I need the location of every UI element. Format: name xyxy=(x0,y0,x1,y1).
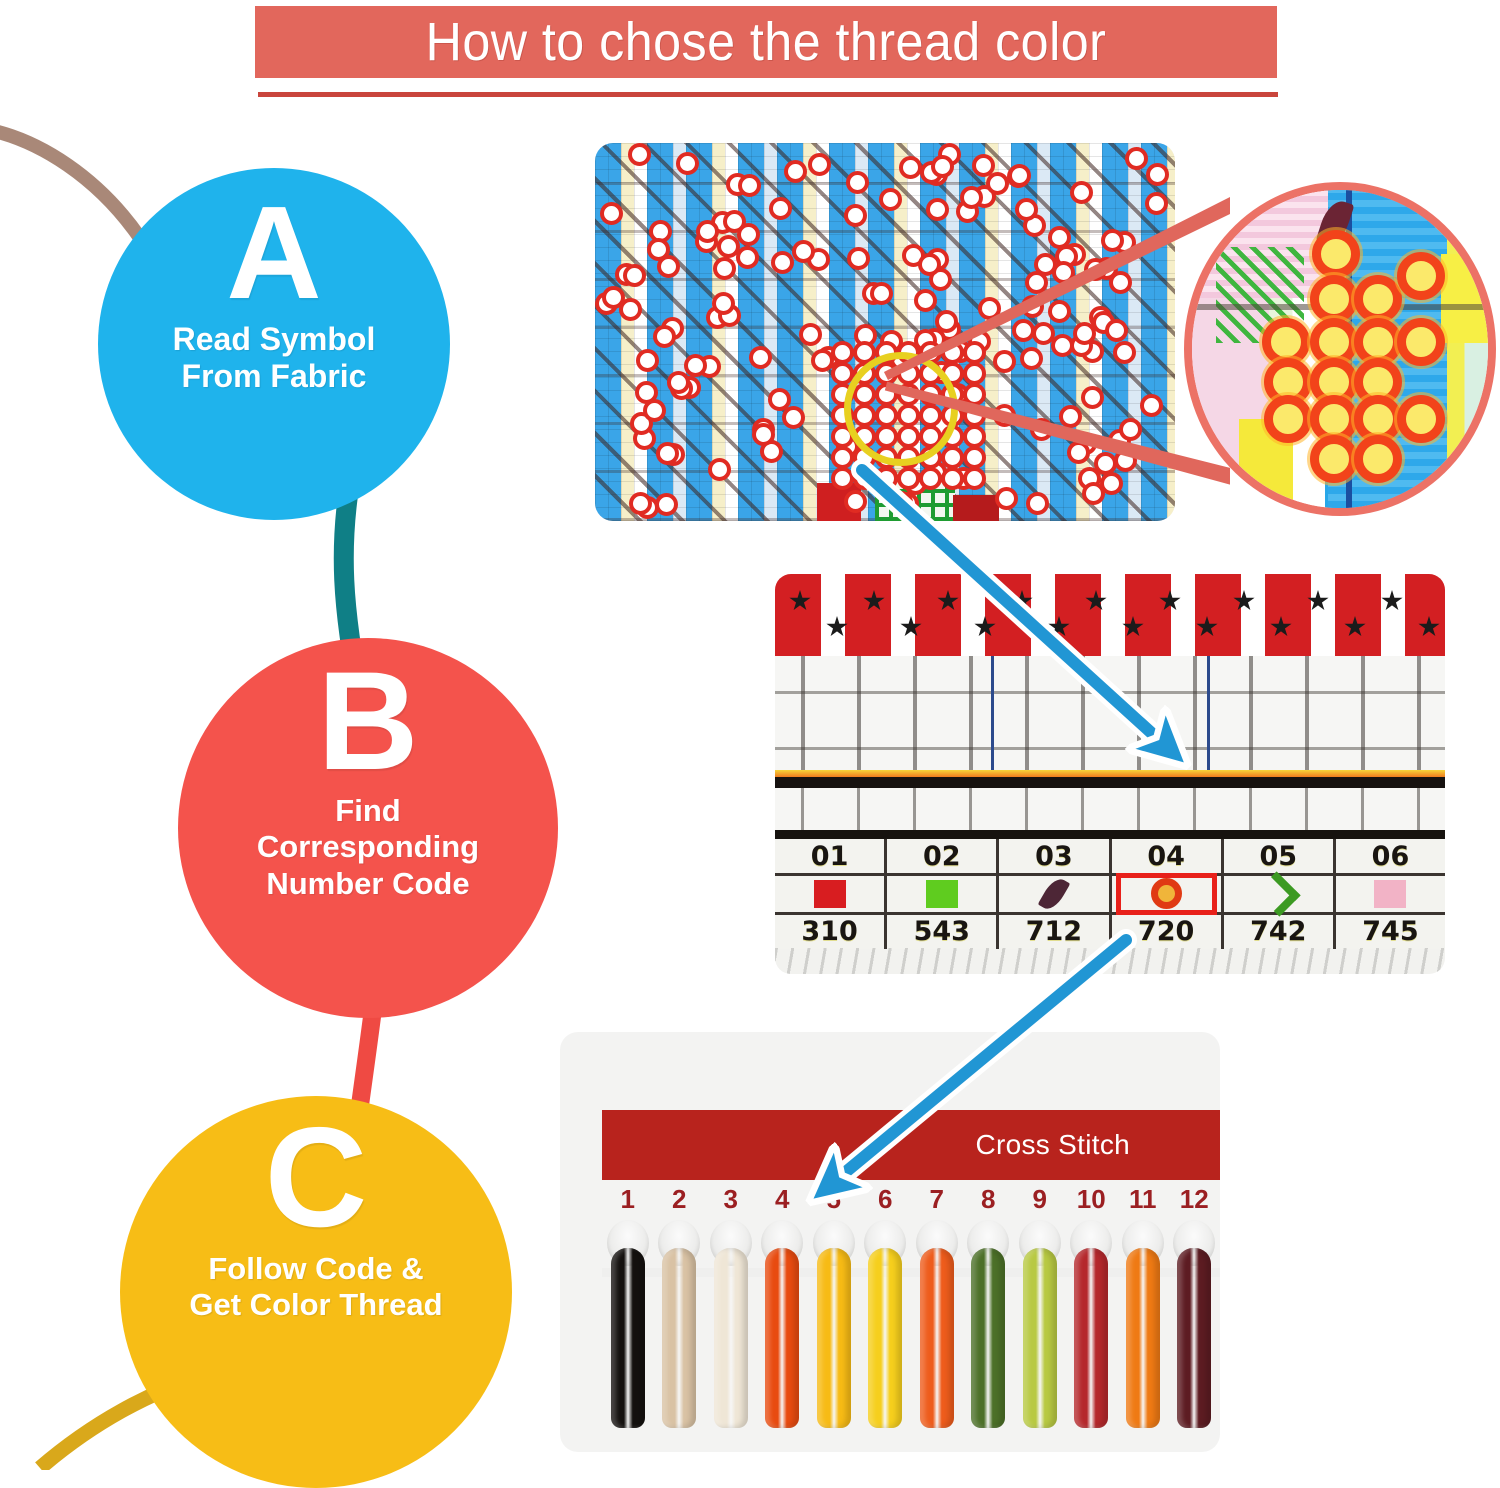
chart-spiral-binding xyxy=(775,948,1445,974)
thread-strand-slot[interactable] xyxy=(654,1248,706,1448)
symbol-key-number: 02 xyxy=(887,839,996,873)
thread-strand-slot[interactable] xyxy=(1014,1248,1066,1448)
connector-top-line xyxy=(0,120,150,240)
chart-grid-area xyxy=(775,656,1445,776)
square-icon xyxy=(926,880,958,908)
step-circle-b[interactable]: B Find Corresponding Number Code xyxy=(178,638,558,1018)
symbol-key-table: 013100254303712047200574206745 xyxy=(775,839,1445,949)
chart-star xyxy=(1233,590,1255,612)
thread-position-number: 8 xyxy=(963,1184,1015,1224)
symbol-key-column[interactable]: 02543 xyxy=(887,839,999,949)
thread-bundle xyxy=(765,1248,799,1428)
lens-ring-symbol xyxy=(1397,318,1445,366)
thread-position-number: 5 xyxy=(808,1184,860,1224)
chart-star xyxy=(974,616,996,638)
thread-bundle xyxy=(611,1248,645,1428)
thread-bundle xyxy=(817,1248,851,1428)
chart-black-stripe-2 xyxy=(775,830,1445,839)
thread-position-number: 9 xyxy=(1014,1184,1066,1224)
chart-star xyxy=(1381,590,1403,612)
magnifier-lens[interactable] xyxy=(1184,182,1496,516)
lens-ring-symbol xyxy=(1354,435,1402,483)
page-title: How to chose the thread color xyxy=(426,11,1107,73)
chart-star xyxy=(1270,616,1292,638)
thread-strand-slot[interactable] xyxy=(1066,1248,1118,1448)
chart-stars xyxy=(775,584,1445,646)
step-c-caption-line2: Get Color Thread xyxy=(189,1287,442,1322)
chart-star xyxy=(863,590,885,612)
symbol-key-glyph-cell[interactable] xyxy=(1112,873,1221,915)
step-c-caption-line1: Follow Code & xyxy=(208,1251,423,1286)
thread-bundle xyxy=(868,1248,902,1428)
symbol-key-column[interactable]: 04720 xyxy=(1112,839,1224,949)
thread-strand-slot[interactable] xyxy=(963,1248,1015,1448)
thread-position-number: 4 xyxy=(757,1184,809,1224)
symbol-key-column[interactable]: 05742 xyxy=(1224,839,1336,949)
symbol-key-number: 03 xyxy=(999,839,1108,873)
symbol-key-code: 742 xyxy=(1224,915,1333,949)
symbol-key-code: 543 xyxy=(887,915,996,949)
thread-position-number: 12 xyxy=(1169,1184,1221,1224)
thread-bundle xyxy=(920,1248,954,1428)
thread-bundle xyxy=(1074,1248,1108,1428)
symbol-highlight-box xyxy=(1116,873,1217,915)
page-title-banner: How to chose the thread color xyxy=(255,6,1277,78)
symbol-key-column[interactable]: 06745 xyxy=(1336,839,1445,949)
chevron-icon xyxy=(1256,871,1301,916)
symbol-key-glyph-cell[interactable] xyxy=(999,873,1108,915)
step-b-letter: B xyxy=(317,650,418,793)
thread-strand-slot[interactable] xyxy=(1169,1248,1221,1448)
thread-strand-slot[interactable] xyxy=(1117,1248,1169,1448)
step-c-letter: C xyxy=(265,1106,368,1251)
lens-ring-symbol xyxy=(1312,230,1360,278)
chart-star xyxy=(937,590,959,612)
chart-star xyxy=(1196,616,1218,638)
thread-brand-label: Cross Stitch xyxy=(975,1129,1130,1161)
thread-strands xyxy=(602,1248,1220,1448)
thread-position-number: 6 xyxy=(860,1184,912,1224)
lens-ring-symbol xyxy=(1397,395,1445,443)
lens-yellow-area-2 xyxy=(1441,254,1488,343)
thread-position-number: 10 xyxy=(1066,1184,1118,1224)
thread-strand-slot[interactable] xyxy=(705,1248,757,1448)
symbol-key-code: 745 xyxy=(1336,915,1445,949)
chart-star xyxy=(1122,616,1144,638)
symbol-key-glyph-cell[interactable] xyxy=(1336,873,1445,915)
chart-star xyxy=(900,616,922,638)
thread-bundle xyxy=(1023,1248,1057,1428)
symbol-key-column[interactable]: 01310 xyxy=(775,839,887,949)
chart-star xyxy=(1159,590,1181,612)
thread-strand-slot[interactable] xyxy=(911,1248,963,1448)
symbol-key-number: 01 xyxy=(775,839,884,873)
chart-divider-1 xyxy=(991,656,994,776)
symbol-chart-card[interactable]: 013100254303712047200574206745 xyxy=(775,574,1445,974)
chart-star xyxy=(1085,590,1107,612)
symbol-key-code: 712 xyxy=(999,915,1108,949)
chart-star xyxy=(1011,590,1033,612)
leaf-icon xyxy=(1038,875,1071,913)
thread-bundle xyxy=(971,1248,1005,1428)
step-b-caption-line1: Find xyxy=(335,793,400,828)
lens-ring-symbol xyxy=(1310,435,1358,483)
step-c-caption: Follow Code & Get Color Thread xyxy=(175,1251,456,1324)
symbol-key-glyph-cell[interactable] xyxy=(887,873,996,915)
thread-strand-slot[interactable] xyxy=(860,1248,912,1448)
step-circle-c[interactable]: C Follow Code & Get Color Thread xyxy=(120,1096,512,1488)
chart-star xyxy=(1307,590,1329,612)
thread-bundle xyxy=(1126,1248,1160,1428)
thread-strand-slot[interactable] xyxy=(757,1248,809,1448)
chart-divider-2 xyxy=(1207,656,1210,776)
thread-position-number: 11 xyxy=(1117,1184,1169,1224)
lens-ring-symbol xyxy=(1264,395,1312,443)
step-b-caption-line2: Corresponding xyxy=(257,829,479,864)
chart-star xyxy=(826,616,848,638)
chart-star xyxy=(1048,616,1070,638)
square-icon xyxy=(1374,880,1406,908)
symbol-key-glyph-cell[interactable] xyxy=(775,873,884,915)
thread-position-number: 7 xyxy=(911,1184,963,1224)
symbol-key-number: 04 xyxy=(1112,839,1221,873)
lens-ring-symbol xyxy=(1310,275,1358,323)
thread-bundle xyxy=(714,1248,748,1428)
magnifier-rays xyxy=(330,150,1230,550)
thread-position-number: 1 xyxy=(602,1184,654,1224)
lens-ring-symbol xyxy=(1397,252,1445,300)
symbol-key-number: 05 xyxy=(1224,839,1333,873)
symbol-key-code: 720 xyxy=(1112,915,1221,949)
chart-star xyxy=(789,590,811,612)
thread-bundle xyxy=(662,1248,696,1428)
step-a-letter: A xyxy=(226,186,321,321)
thread-organizer-card[interactable]: Cross Stitch 123456789101112 xyxy=(560,1032,1220,1452)
chart-grid-area-2 xyxy=(775,788,1445,830)
title-underline xyxy=(258,92,1278,97)
step-b-caption: Find Corresponding Number Code xyxy=(243,793,493,903)
thread-position-number: 2 xyxy=(654,1184,706,1224)
thread-strand-slot[interactable] xyxy=(808,1248,860,1448)
chart-star xyxy=(1418,616,1440,638)
symbol-key-column[interactable]: 03712 xyxy=(999,839,1111,949)
lens-ring-symbol xyxy=(1354,275,1402,323)
thread-bundle xyxy=(1177,1248,1211,1428)
thread-position-number: 3 xyxy=(705,1184,757,1224)
chart-yellow-stripe xyxy=(775,770,1445,777)
chart-star xyxy=(1344,616,1366,638)
chart-black-stripe xyxy=(775,777,1445,788)
thread-position-numbers: 123456789101112 xyxy=(602,1184,1220,1224)
symbol-key-glyph-cell[interactable] xyxy=(1224,873,1333,915)
step-b-caption-line3: Number Code xyxy=(266,866,469,901)
thread-strand-slot[interactable] xyxy=(602,1248,654,1448)
thread-brand-band: Cross Stitch xyxy=(602,1110,1220,1180)
symbol-key-code: 310 xyxy=(775,915,884,949)
square-icon xyxy=(814,880,846,908)
symbol-key-number: 06 xyxy=(1336,839,1445,873)
